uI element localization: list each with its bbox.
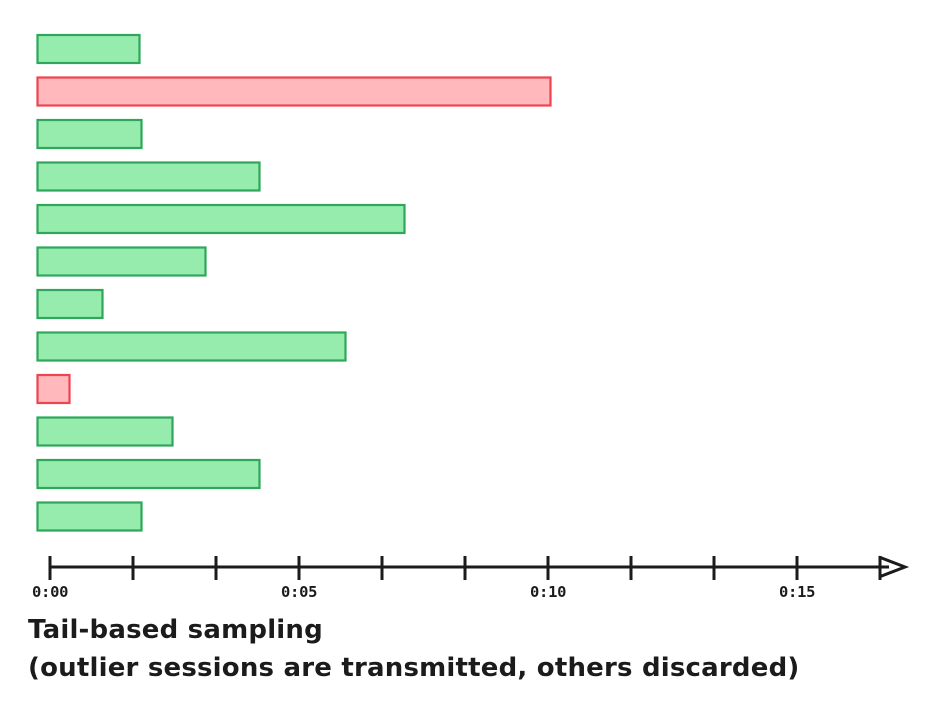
axis-tick-label-0-10: 0:10 <box>530 583 566 601</box>
axis-tick-label-0-15: 0:15 <box>779 583 815 601</box>
chart-title: Tail-based sampling <box>28 617 323 643</box>
bar-session-11[interactable] <box>38 460 260 488</box>
bar-session-12[interactable] <box>38 503 142 531</box>
bar-session-8[interactable] <box>38 333 346 361</box>
bar-session-6[interactable] <box>38 248 206 276</box>
bars-group <box>38 35 551 531</box>
bar-session-10[interactable] <box>38 418 173 446</box>
bar-session-1[interactable] <box>38 35 140 63</box>
chart-subtitle: (outlier sessions are transmitted, other… <box>28 655 799 681</box>
bar-session-7[interactable] <box>38 290 103 318</box>
axis-tick-label-0-05: 0:05 <box>281 583 317 601</box>
bar-session-5[interactable] <box>38 205 405 233</box>
time-axis: 0:000:050:100:15 <box>32 556 905 601</box>
axis-tick-labels-group: 0:000:050:100:15 <box>32 583 815 601</box>
bar-session-4[interactable] <box>38 163 260 191</box>
bar-chart: 0:000:050:100:15 <box>0 0 942 716</box>
bar-session-2[interactable] <box>38 78 551 106</box>
axis-tick-label-0-00: 0:00 <box>32 583 68 601</box>
chart-canvas: 0:000:050:100:15 Tail-based sampling (ou… <box>0 0 942 716</box>
bar-session-3[interactable] <box>38 120 142 148</box>
bar-session-9[interactable] <box>38 375 70 403</box>
